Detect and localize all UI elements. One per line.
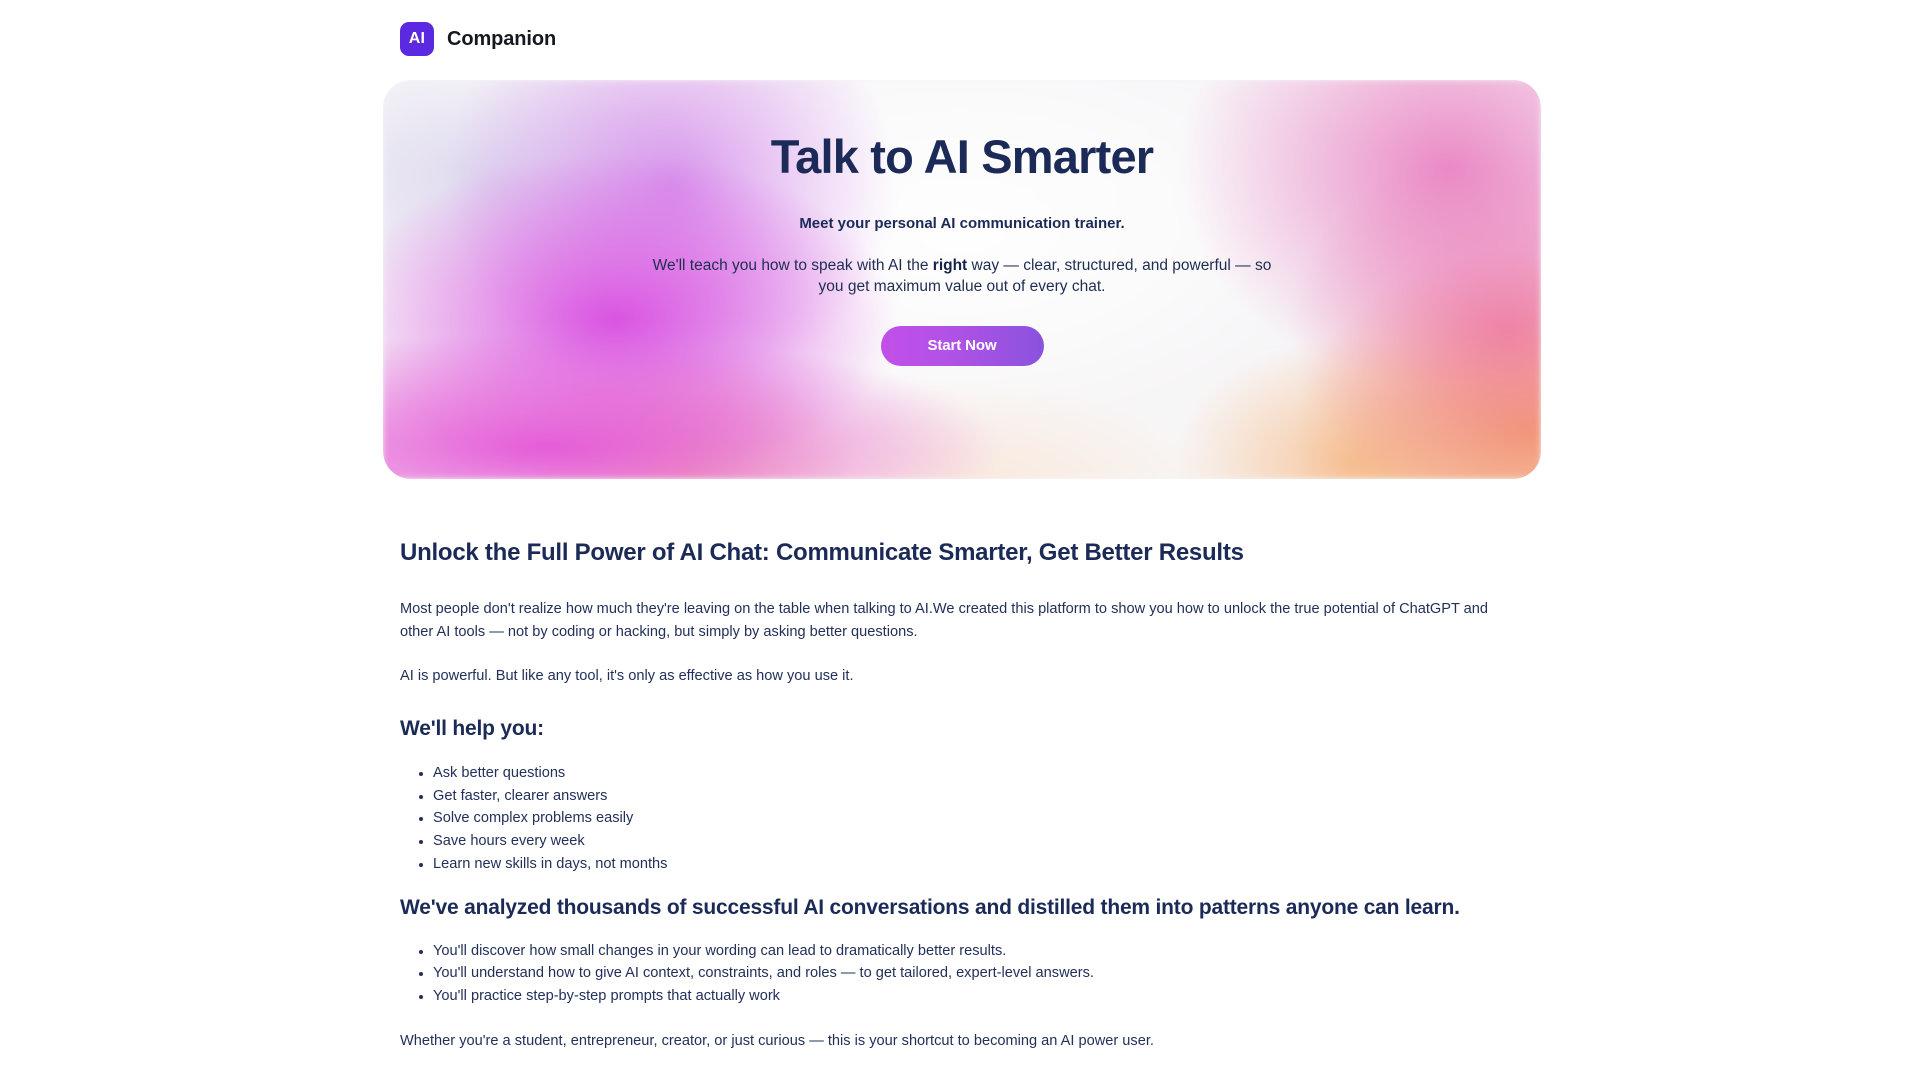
list-item: Save hours every week <box>433 830 1520 853</box>
outcomes-list: You'll discover how small changes in you… <box>400 940 1520 1008</box>
brand-logo[interactable]: AI Companion <box>400 22 556 56</box>
list-item: You'll practice step-by-step prompts tha… <box>433 985 1520 1008</box>
spacer <box>400 875 1520 894</box>
article-heading: Unlock the Full Power of AI Chat: Commun… <box>400 538 1520 569</box>
hero-content: Talk to AI Smarter Meet your personal AI… <box>383 80 1541 479</box>
article-subheading-2: We've analyzed thousands of successful A… <box>400 894 1520 921</box>
article-subheading-1: We'll help you: <box>400 715 1520 742</box>
start-now-button[interactable]: Start Now <box>881 326 1044 366</box>
list-item: Learn new skills in days, not months <box>433 853 1520 876</box>
spacer <box>400 569 1520 598</box>
list-item: Solve complex problems easily <box>433 807 1520 830</box>
landing-page: AI Companion Talk to AI Smarter Meet you… <box>0 0 1920 1080</box>
spacer <box>400 689 1520 715</box>
spacer <box>400 645 1520 665</box>
list-item: Ask better questions <box>433 762 1520 785</box>
hero-title: Talk to AI Smarter <box>771 80 1154 184</box>
article-paragraph-2: AI is powerful. But like any tool, it's … <box>400 665 1520 689</box>
hero-subtitle: Meet your personal AI communication trai… <box>799 184 1124 234</box>
article-paragraph-1: Most people don't realize how much they'… <box>400 598 1520 645</box>
hero-desc-before: We'll teach you how to speak with AI the <box>653 257 933 274</box>
list-item: You'll discover how small changes in you… <box>433 940 1520 963</box>
list-item: Get faster, clearer answers <box>433 785 1520 808</box>
list-item: You'll understand how to give AI context… <box>433 962 1520 985</box>
article-body: Unlock the Full Power of AI Chat: Commun… <box>400 538 1520 1053</box>
brand-name: Companion <box>447 29 556 49</box>
ai-badge-label: AI <box>409 31 425 47</box>
ai-badge-icon: AI <box>400 22 434 56</box>
benefits-list: Ask better questions Get faster, clearer… <box>400 762 1520 875</box>
spacer <box>400 1008 1520 1030</box>
spacer <box>400 922 1520 940</box>
article-paragraph-3: Whether you're a student, entrepreneur, … <box>400 1030 1520 1054</box>
hero-description: We'll teach you how to speak with AI the… <box>652 233 1272 298</box>
hero-desc-emphasis: right <box>933 257 967 274</box>
hero-section: Talk to AI Smarter Meet your personal AI… <box>383 80 1541 479</box>
spacer <box>400 742 1520 762</box>
